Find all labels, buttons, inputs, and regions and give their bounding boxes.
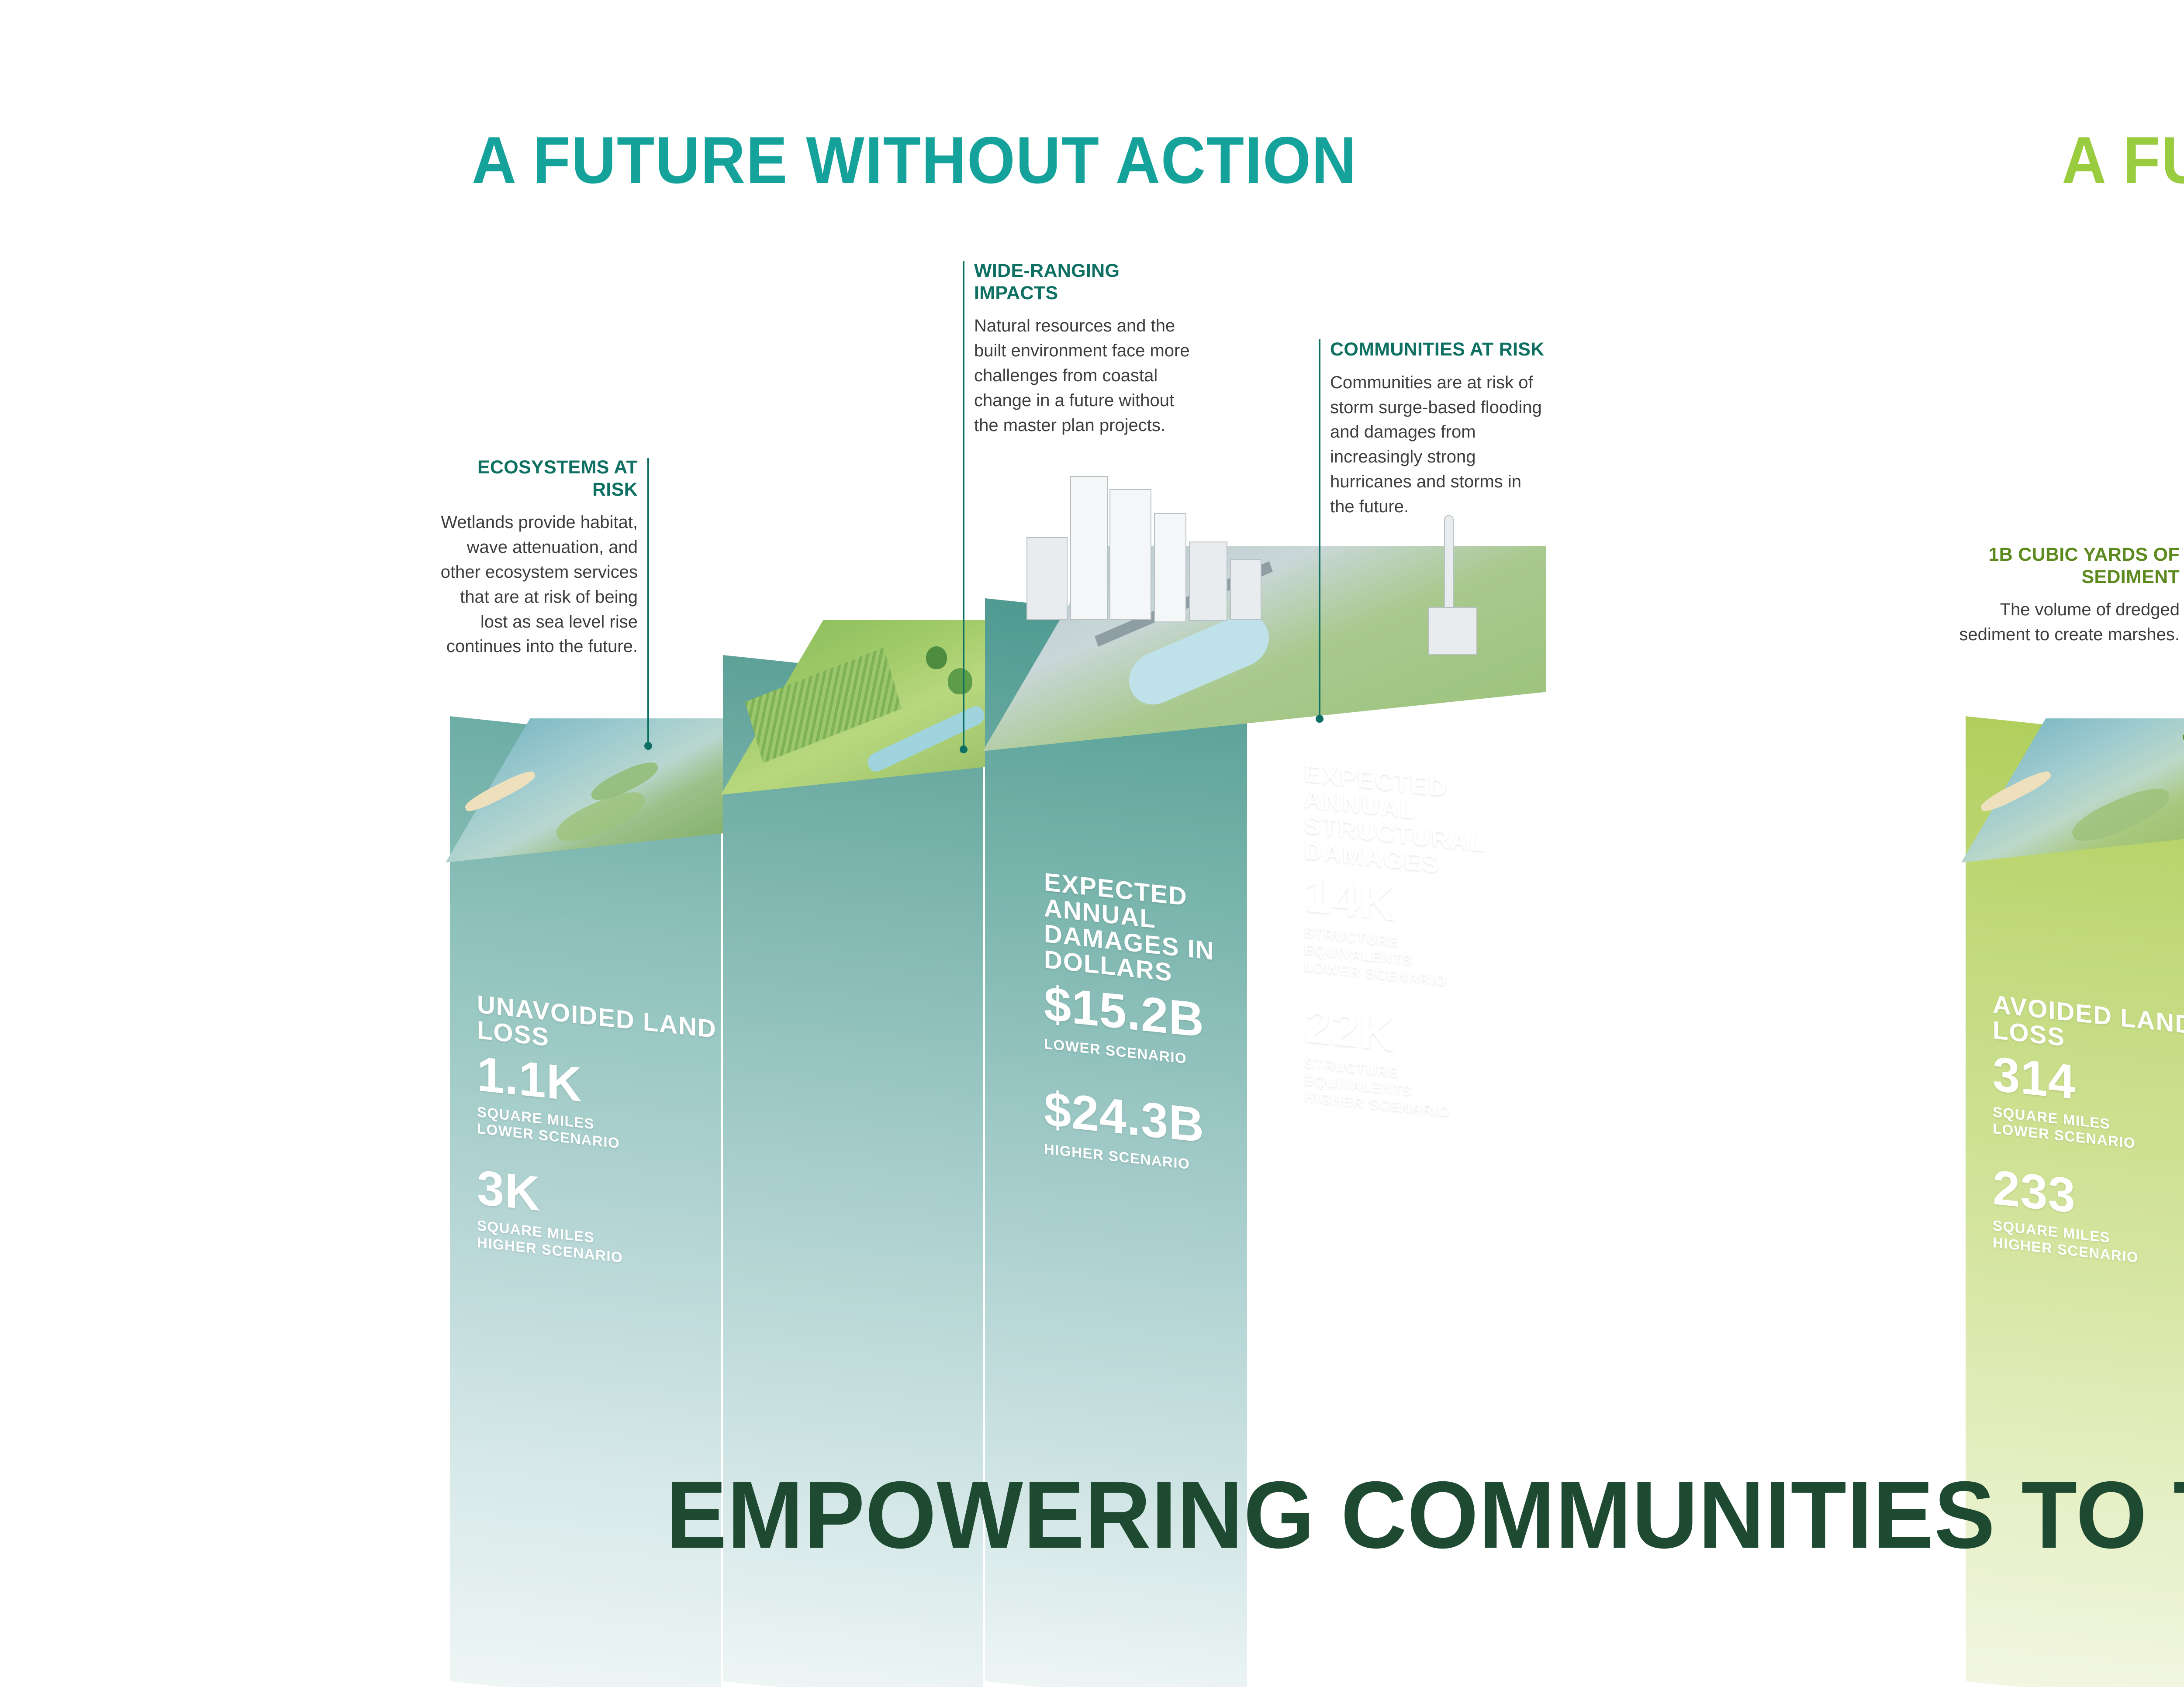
metric-unavoided-land-loss: UNAVOIDED LAND LOSS 1.1K SQUARE MILES LO… — [477, 991, 722, 1276]
callout-heading: 1B CUBIC YARDS OF SEDIMENT — [1952, 544, 2180, 588]
callout-ecosystems-at-risk: ECOSYSTEMS AT RISK Wetlands provide habi… — [437, 456, 638, 659]
page-title-with-action: A FUTURE WITH ACTION — [2062, 122, 2184, 199]
metric-avoided-land-loss: AVOIDED LAND LOSS 314 SQUARE MILES LOWER… — [1993, 991, 2184, 1276]
metric-expected-annual-damages-in-dollars: EXPECTED ANNUAL DAMAGES IN DOLLARS $15.2… — [1044, 869, 1249, 1179]
callout-wide-ranging-impacts: WIDE-RANGING IMPACTS Natural resources a… — [974, 260, 1201, 438]
infographic-canvas: A FUTURE WITHOUT ACTION A FUTURE WITH AC… — [0, 0, 2184, 1687]
callout-body: Wetlands provide habitat, wave attenuati… — [437, 510, 638, 659]
metric-title: EXPECTED ANNUAL DAMAGES IN DOLLARS — [1044, 869, 1249, 994]
industrial-stack-without-action — [1428, 515, 1481, 655]
metric-title: EXPECTED ANNUAL STRUCTURAL DAMAGES — [1304, 760, 1509, 885]
terrain-wetland-with-action — [1961, 718, 2184, 862]
callout-leader-line — [647, 458, 649, 746]
callout-heading: WIDE-RANGING IMPACTS — [974, 260, 1201, 304]
banner-headline: EMPOWERING COMMUNITIES TO TAKE ACTION — [69, 1461, 2184, 1570]
callout-1b-cubic-yards-of-sediment: 1B CUBIC YARDS OF SEDIMENT The volume of… — [1952, 544, 2180, 647]
callout-leader-line — [1319, 339, 1320, 719]
terrain-wetland-without-action — [446, 718, 725, 862]
metric-expected-annual-structural-damages: EXPECTED ANNUAL STRUCTURAL DAMAGES 14K S… — [1304, 760, 1509, 1127]
callout-heading: ECOSYSTEMS AT RISK — [437, 456, 638, 500]
callout-body: Communities are at risk of storm surge-b… — [1330, 370, 1548, 519]
city-skyline-without-action — [1018, 472, 1315, 655]
terrain-farmland-without-action — [721, 620, 987, 795]
callout-heading: COMMUNITIES AT RISK — [1330, 338, 1548, 361]
callout-body: Natural resources and the built environm… — [974, 314, 1201, 438]
callout-communities-at-risk: COMMUNITIES AT RISK Communities are at r… — [1330, 338, 1548, 519]
callout-leader-line — [963, 261, 964, 750]
page-title-without-action: A FUTURE WITHOUT ACTION — [472, 122, 1357, 199]
callout-body: The volume of dredged sediment to create… — [1952, 597, 2180, 647]
